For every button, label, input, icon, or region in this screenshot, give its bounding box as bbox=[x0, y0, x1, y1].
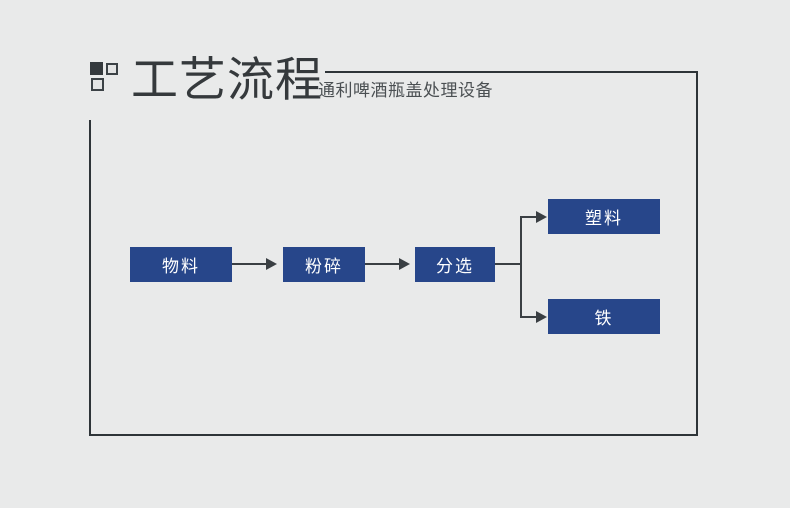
frame-left-border bbox=[89, 120, 91, 436]
flow-node-sort: 分选 bbox=[415, 247, 495, 282]
arrowhead-branch-to-iron-icon bbox=[536, 311, 547, 323]
three-squares-icon bbox=[90, 62, 122, 92]
arrowhead-material-to-crush-icon bbox=[266, 258, 277, 270]
square-outline-bottom-left-icon bbox=[91, 78, 104, 91]
square-filled-icon bbox=[90, 62, 103, 75]
arrowhead-branch-to-plastic-icon bbox=[536, 211, 547, 223]
page-title: 工艺流程 bbox=[131, 51, 323, 109]
square-outline-top-right-icon bbox=[106, 63, 118, 75]
connector-branch-trunk bbox=[520, 216, 522, 318]
flow-node-material: 物料 bbox=[130, 247, 232, 282]
page-subtitle: 通利啤酒瓶盖处理设备 bbox=[318, 80, 493, 102]
connector-sort-to-branch bbox=[495, 263, 522, 265]
flow-node-crush: 粉碎 bbox=[283, 247, 365, 282]
frame-bottom-border bbox=[89, 434, 698, 436]
flow-node-plastic: 塑料 bbox=[548, 199, 660, 234]
frame-top-border bbox=[325, 71, 698, 73]
arrowhead-crush-to-sort-icon bbox=[399, 258, 410, 270]
frame-right-border bbox=[696, 71, 698, 436]
flow-node-iron: 铁 bbox=[548, 299, 660, 334]
process-flow-diagram: 工艺流程 通利啤酒瓶盖处理设备 物料 粉碎 分选 塑料 铁 bbox=[0, 0, 790, 508]
